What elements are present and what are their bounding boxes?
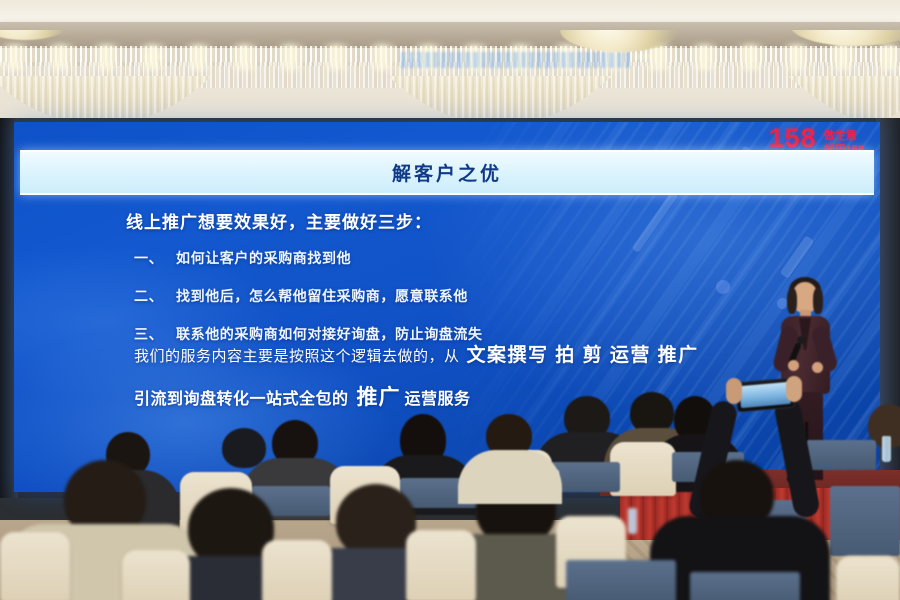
chair-cushion bbox=[566, 560, 676, 600]
ceiling-upper-band bbox=[0, 0, 900, 22]
paragraph-line2-lead: 引流到询盘转化一站式全包的 bbox=[134, 385, 349, 409]
chandelier-cluster bbox=[0, 30, 70, 40]
conference-photo-scene: 158 www.158.net 做生意 就用158 解客户之优 线上推广想要效果… bbox=[0, 0, 900, 600]
led-presentation-screen: 158 www.158.net 做生意 就用158 解客户之优 线上推广想要效果… bbox=[14, 122, 880, 492]
presenter-hair-side bbox=[787, 288, 797, 314]
presenter-hand-right bbox=[812, 362, 823, 373]
chair-cushion bbox=[806, 440, 876, 470]
chair bbox=[0, 532, 70, 600]
hand-left bbox=[726, 378, 742, 404]
list-item: 二、 找到他后，怎么帮他留住采购商，愿意联系他 bbox=[134, 286, 483, 306]
audience-shoulders bbox=[458, 450, 562, 504]
bullet-number: 一、 bbox=[134, 248, 176, 268]
slide-title-banner: 解客户之优 bbox=[20, 150, 874, 195]
chair-cushion-tall bbox=[830, 486, 900, 556]
water-bottle bbox=[628, 508, 637, 534]
water-bottle bbox=[882, 436, 891, 462]
chair bbox=[406, 530, 476, 600]
chandelier-blue-reflection bbox=[400, 52, 630, 68]
paragraph-line2-tail: 运营服务 bbox=[405, 385, 471, 409]
paragraph-line-1: 我们的服务内容主要是按照这个逻辑去做的，从 文案撰写 拍 剪 运营 推广 bbox=[134, 340, 834, 367]
audience-head-with-cap bbox=[222, 428, 266, 468]
hand-right bbox=[786, 376, 802, 402]
list-item: 一、 如何让客户的采购商找到他 bbox=[134, 248, 483, 268]
slide-headline: 线上推广想要效果好，主要做好三步： bbox=[126, 208, 432, 233]
microphone-head-icon bbox=[797, 336, 805, 344]
chair-cushion bbox=[690, 572, 800, 600]
ceiling bbox=[0, 0, 900, 126]
paragraph-line1-lead: 我们的服务内容主要是按照这个逻辑去做的，从 bbox=[134, 345, 460, 366]
logo-tagline-line1: 做生意 bbox=[824, 130, 864, 144]
audience-head bbox=[336, 484, 416, 558]
logo-number: 158 bbox=[769, 126, 817, 152]
slide-title: 解客户之优 bbox=[392, 159, 502, 186]
presenter-hair-side bbox=[813, 288, 823, 314]
bullet-text: 如何让客户的采购商找到他 bbox=[176, 248, 351, 268]
chair bbox=[836, 556, 900, 600]
bullet-text: 找到他后，怎么帮他留住采购商，愿意联系他 bbox=[176, 286, 468, 306]
chair bbox=[122, 550, 190, 600]
presenter-hand-left bbox=[788, 360, 799, 371]
bullet-number: 二、 bbox=[134, 286, 176, 306]
phone-screen bbox=[739, 382, 791, 408]
paragraph-line1-keywords: 文案撰写 拍 剪 运营 推广 bbox=[467, 340, 699, 367]
chair bbox=[262, 540, 332, 600]
paragraph-line2-keyword: 推广 bbox=[357, 381, 401, 411]
